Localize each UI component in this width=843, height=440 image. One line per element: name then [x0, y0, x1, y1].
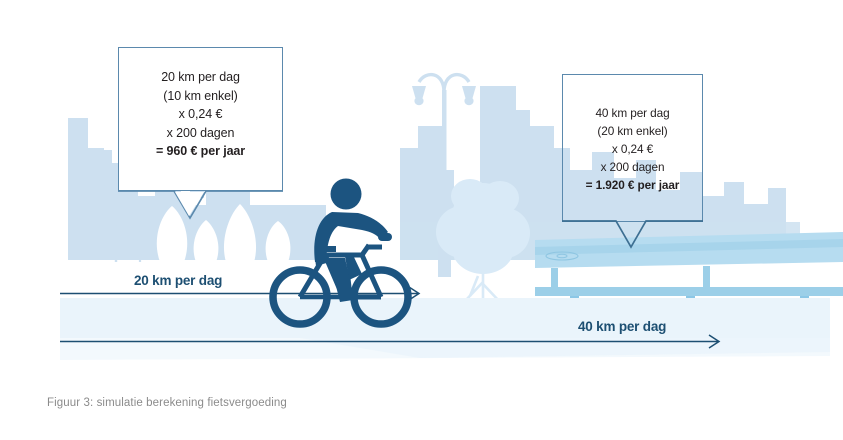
callout-right-line-3: x 0,24 € [563, 140, 702, 158]
callout-right-line-2: (20 km enkel) [563, 122, 702, 140]
route-label-40km: 40 km per dag [578, 319, 666, 334]
figure-caption: Figuur 3: simulatie berekening fietsverg… [47, 397, 287, 409]
route-label-20km: 20 km per dag [134, 273, 222, 288]
callout-right-result: = 1.920 € per jaar [563, 176, 702, 194]
callout-left-line-4: x 200 dagen [119, 124, 282, 143]
callout-20km-tail [118, 186, 288, 226]
callout-20km: 20 km per dag (10 km enkel) x 0,24 € x 2… [118, 47, 283, 191]
callout-right-line-1: 40 km per dag [563, 104, 702, 122]
callout-left-result: = 960 € per jaar [119, 142, 282, 161]
callout-right-line-4: x 200 dagen [563, 158, 702, 176]
ground-band-upper [60, 298, 830, 338]
callout-left-line-1: 20 km per dag [119, 68, 282, 87]
figure-container: 20 km per dag (10 km enkel) x 0,24 € x 2… [0, 0, 843, 440]
callout-left-line-3: x 0,24 € [119, 105, 282, 124]
callout-40km: 40 km per dag (20 km enkel) x 0,24 € x 2… [562, 74, 703, 222]
callout-40km-tail [562, 217, 707, 253]
callout-left-line-2: (10 km enkel) [119, 87, 282, 106]
